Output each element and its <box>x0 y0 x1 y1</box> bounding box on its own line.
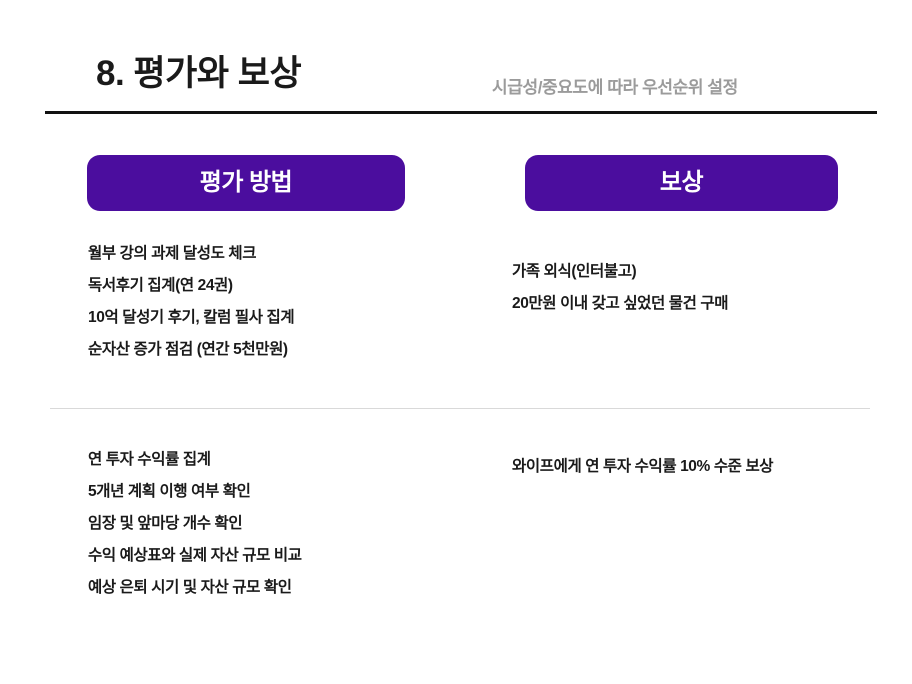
list-item: 월부 강의 과제 달성도 체크 <box>88 238 294 270</box>
column-header-label: 평가 방법 <box>200 171 293 195</box>
bottom-section-left-list: 연 투자 수익률 집계 5개년 계획 이행 여부 확인 임장 및 앞마당 개수 … <box>88 444 302 604</box>
page-title: 8. 평가와 보상 <box>96 56 301 91</box>
list-item: 연 투자 수익률 집계 <box>88 444 302 476</box>
list-item: 5개년 계획 이행 여부 확인 <box>88 476 302 508</box>
list-item: 수익 예상표와 실제 자산 규모 비교 <box>88 540 302 572</box>
top-section-left-list: 월부 강의 과제 달성도 체크 독서후기 집계(연 24권) 10억 달성기 후… <box>88 238 294 366</box>
top-section-right-list: 가족 외식(인터불고) 20만원 이내 갖고 싶었던 물건 구매 <box>512 256 728 320</box>
list-item: 20만원 이내 갖고 싶었던 물건 구매 <box>512 288 728 320</box>
section-divider <box>50 408 870 409</box>
page-subtitle: 시급성/중요도에 따라 우선순위 설정 <box>492 79 738 96</box>
list-item: 가족 외식(인터불고) <box>512 256 728 288</box>
slide-header: 8. 평가와 보상 시급성/중요도에 따라 우선순위 설정 <box>0 0 912 118</box>
slide-canvas: 8. 평가와 보상 시급성/중요도에 따라 우선순위 설정 평가 방법 보상 월… <box>0 0 912 684</box>
list-item: 와이프에게 연 투자 수익률 10% 수준 보상 <box>512 451 773 483</box>
column-header-reward: 보상 <box>525 155 838 211</box>
column-header-evaluation-method: 평가 방법 <box>87 155 405 211</box>
list-item: 임장 및 앞마당 개수 확인 <box>88 508 302 540</box>
list-item: 예상 은퇴 시기 및 자산 규모 확인 <box>88 572 302 604</box>
list-item: 순자산 증가 점검 (연간 5천만원) <box>88 334 294 366</box>
header-divider-rule <box>45 111 877 114</box>
list-item: 독서후기 집계(연 24권) <box>88 270 294 302</box>
column-header-label: 보상 <box>660 171 703 195</box>
list-item: 10억 달성기 후기, 칼럼 필사 집계 <box>88 302 294 334</box>
bottom-section-right-list: 와이프에게 연 투자 수익률 10% 수준 보상 <box>512 451 773 483</box>
